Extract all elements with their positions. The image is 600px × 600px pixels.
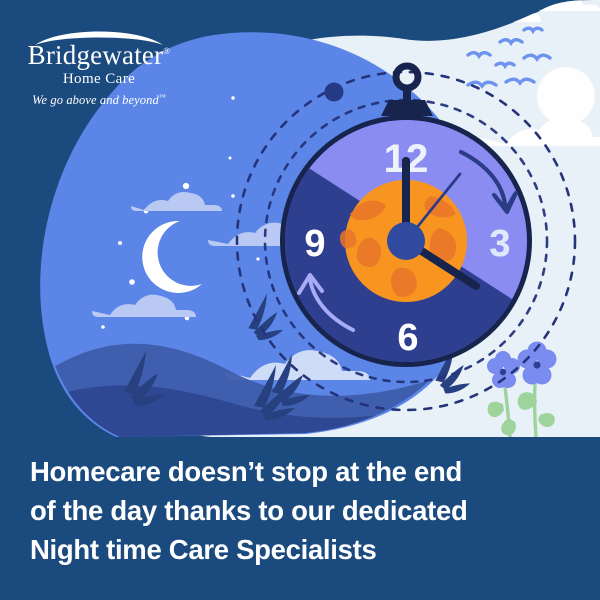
brand-logo[interactable]: Bridgewater® Home Care We go above and b… [24,26,174,108]
headline-line-2: of the day thanks to our dedicated [30,491,570,530]
trademark-mark: ™ [159,93,166,101]
brand-tagline: We go above and beyond™ [24,90,174,108]
brand-name: Bridgewater® [28,40,171,70]
sun-icon [537,67,595,125]
headline-line-3: Night time Care Specialists [30,530,570,569]
clock-center-pin [387,222,425,260]
brand-service: Home Care [24,71,174,88]
clock-numeral-9: 9 [304,223,325,265]
registered-mark: ® [163,46,170,56]
clock-numeral-6: 6 [397,317,418,359]
clock-numeral-3: 3 [489,223,510,265]
orbit-dot [325,83,344,102]
headline-line-1: Homecare doesn’t stop at the end [30,452,570,491]
brand-tagline-text: We go above and beyond [32,93,159,107]
brand-name-text: Bridgewater [28,40,164,70]
headline: Homecare doesn’t stop at the end of the … [30,452,570,569]
poster-canvas: 12 3 6 9 [0,0,600,600]
